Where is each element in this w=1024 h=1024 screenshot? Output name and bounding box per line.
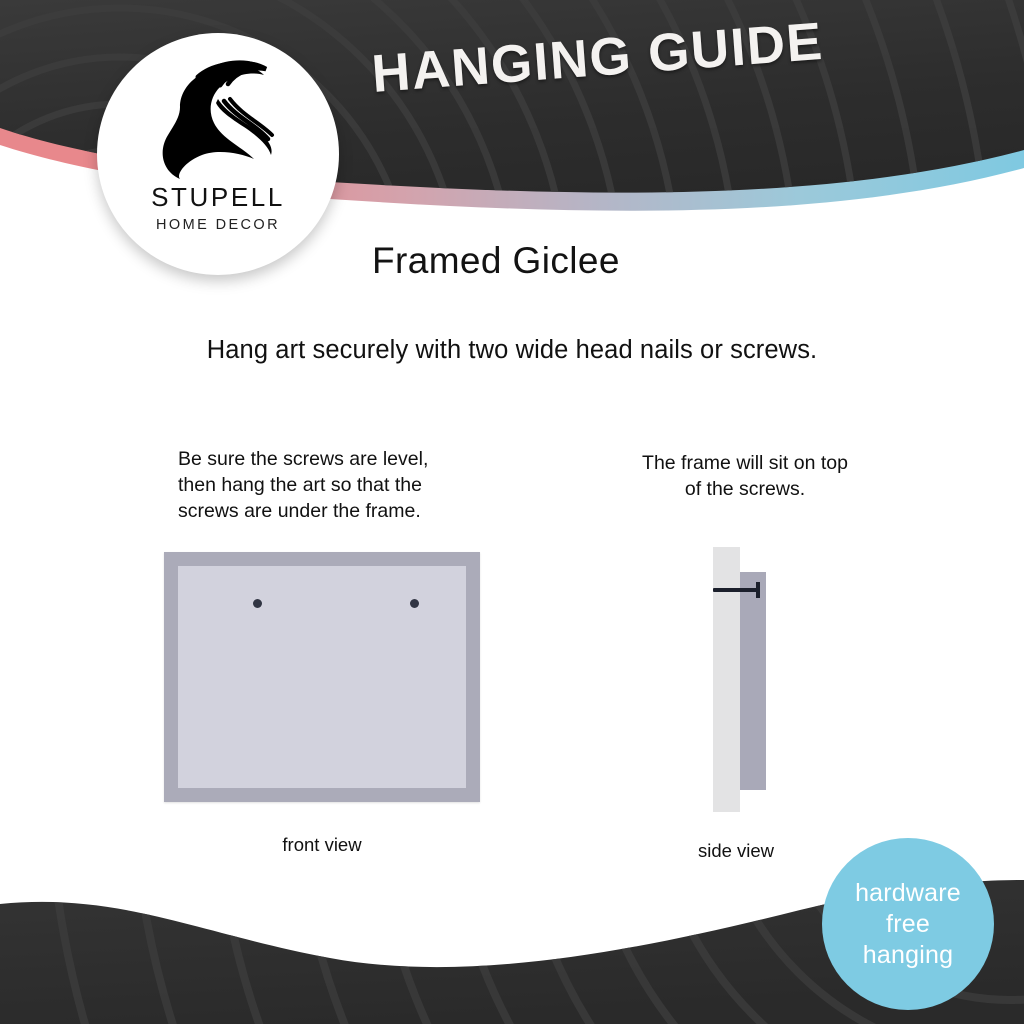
brand-logo-badge: STUPELL HOME DECOR <box>97 33 339 275</box>
hardware-free-hanging-badge: hardware free hanging <box>822 838 994 1010</box>
side-view-wall <box>713 547 740 812</box>
logo-tagline: HOME DECOR <box>156 217 280 233</box>
nail-head-icon <box>756 582 760 598</box>
hanging-guide-page: HANGING GUIDE STUPELL HOME DECOR Framed … <box>0 0 1024 1024</box>
stupell-swirl-s-icon <box>158 55 278 179</box>
side-view-label: side view <box>646 840 826 862</box>
front-view-label: front view <box>164 834 480 856</box>
badge-line-3: hanging <box>863 940 953 971</box>
product-name: Framed Giclee <box>372 240 620 282</box>
nail-icon <box>713 588 760 592</box>
lead-instruction: Hang art securely with two wide head nai… <box>0 336 1024 365</box>
screw-dot-right <box>410 599 419 608</box>
front-view-mat <box>178 566 466 788</box>
front-view-caption: Be sure the screws are level, then hang … <box>178 446 478 524</box>
logo-wordmark: STUPELL <box>151 182 285 213</box>
screw-dot-left <box>253 599 262 608</box>
badge-line-1: hardware <box>855 878 961 909</box>
side-view-caption: The frame will sit on top of the screws. <box>600 450 890 502</box>
side-view-diagram <box>690 530 810 830</box>
badge-line-2: free <box>886 909 930 940</box>
front-view-diagram <box>164 552 480 802</box>
side-view-frame <box>740 572 766 790</box>
